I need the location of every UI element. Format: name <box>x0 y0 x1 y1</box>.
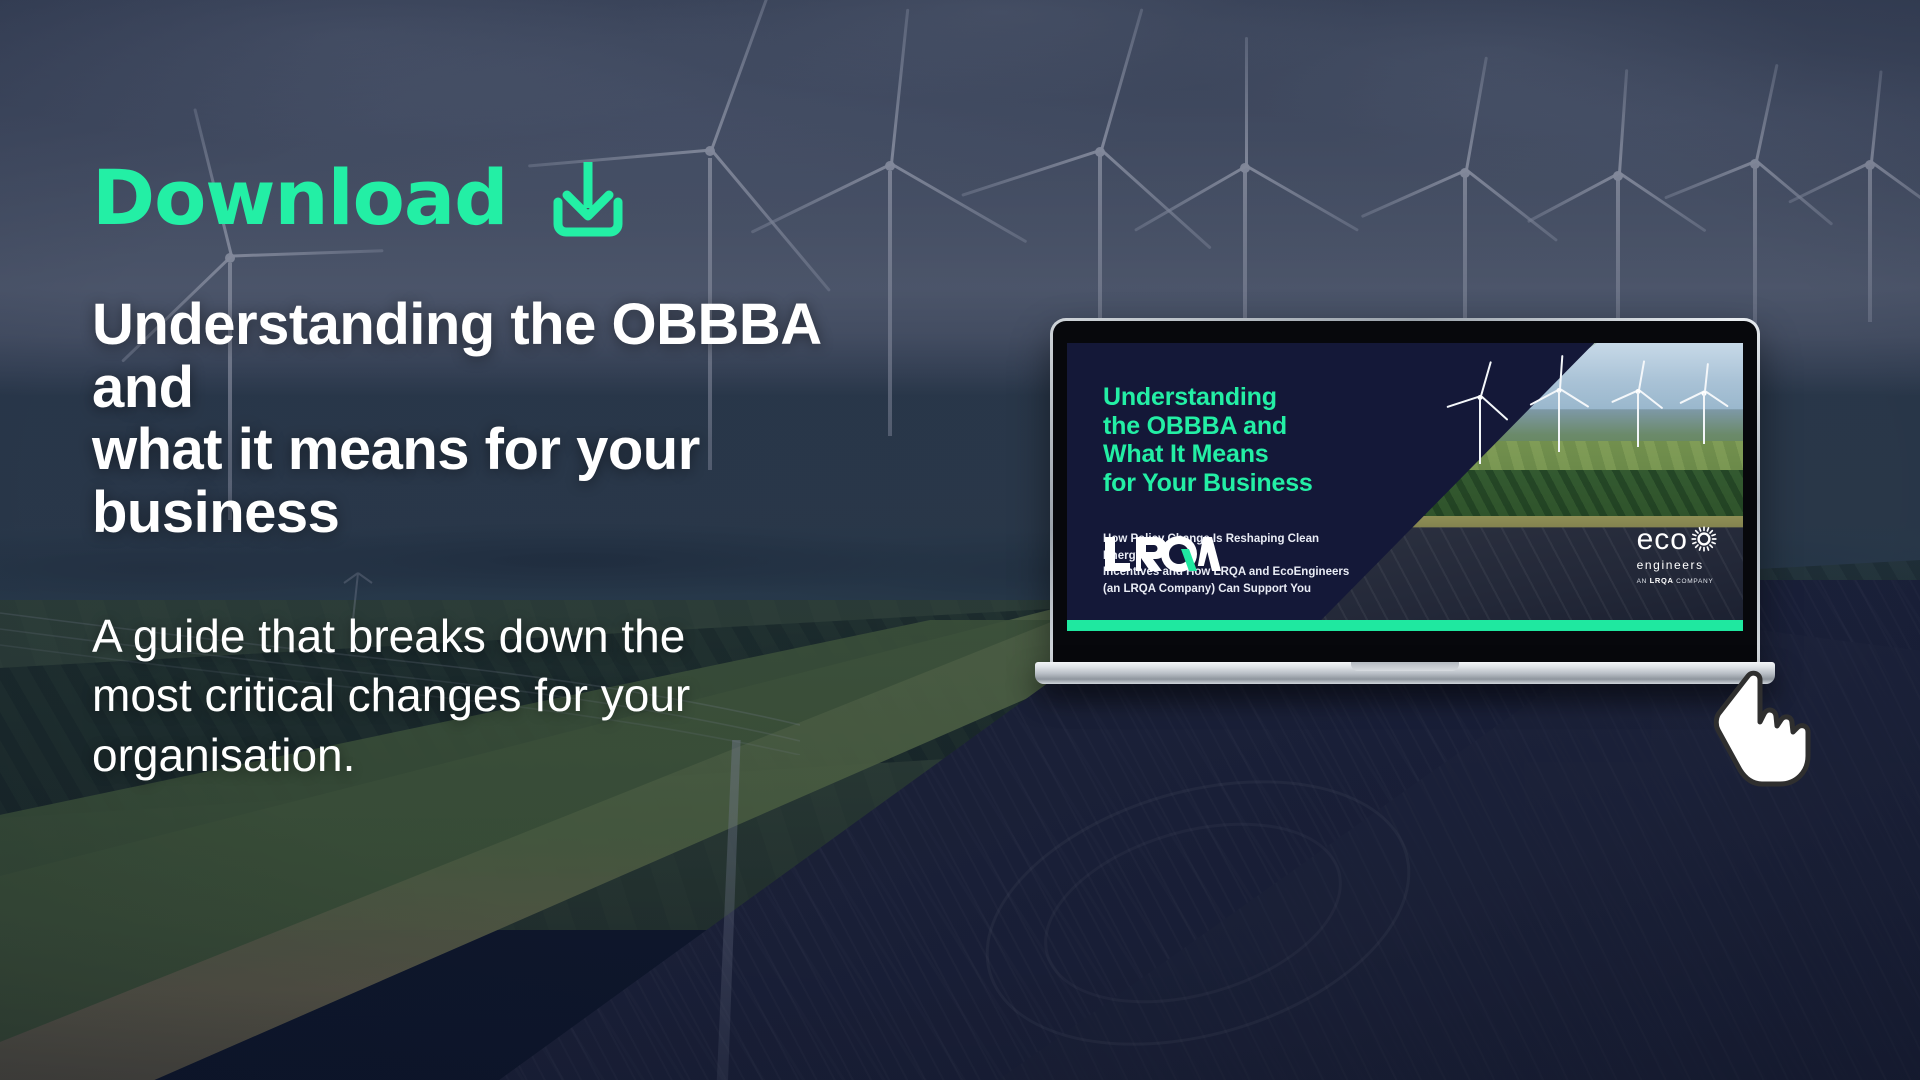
cover-wind-turbine-icon <box>1459 378 1501 464</box>
ecoengineers-subtitle: engineers <box>1637 558 1717 572</box>
cover-title: Understanding the OBBBA and What It Mean… <box>1103 383 1358 497</box>
cover-title-line-1: Understanding <box>1103 383 1358 412</box>
hand-pointer-cursor-icon <box>1712 660 1820 788</box>
ecoengineers-tagline: AN LRQA COMPANY <box>1637 576 1717 585</box>
page-title-line-2: what it means for your business <box>92 419 932 544</box>
cover-title-line-2: the OBBBA and <box>1103 412 1358 441</box>
page-title: Understanding the OBBBA and what it mean… <box>92 294 932 545</box>
lrqa-logo <box>1103 534 1221 579</box>
tagline-brand: LRQA <box>1650 576 1674 585</box>
laptop-lid: Understanding the OBBBA and What It Mean… <box>1050 318 1760 668</box>
laptop-bezel: Understanding the OBBBA and What It Mean… <box>1053 321 1757 665</box>
cover-wind-turbine-icon <box>1540 372 1578 452</box>
promo-copy-block: Download Understanding the OBBBA and wha… <box>92 150 972 786</box>
ecoengineers-wordmark: eco <box>1637 525 1688 555</box>
laptop-base-notch <box>1351 662 1459 671</box>
cover-title-line-3: What It Means <box>1103 440 1358 469</box>
cover-wind-turbine-icon <box>1621 375 1655 447</box>
promo-banner: Download Understanding the OBBBA and wha… <box>0 0 1920 1080</box>
sunburst-icon <box>1691 526 1717 552</box>
lrqa-logo-icon <box>1103 534 1221 574</box>
promo-description: A guide that breaks down the most critic… <box>92 607 792 786</box>
download-eyebrow: Download <box>92 160 508 236</box>
download-icon[interactable] <box>550 156 626 240</box>
cover-accent-bar <box>1067 620 1743 631</box>
tagline-suffix: COMPANY <box>1674 578 1714 585</box>
cover-wind-turbine-icon <box>1689 378 1719 444</box>
laptop-base <box>1035 662 1775 684</box>
laptop-mockup: Understanding the OBBBA and What It Mean… <box>1035 318 1775 648</box>
page-title-line-1: Understanding the OBBBA and <box>92 294 932 419</box>
ebook-cover[interactable]: Understanding the OBBBA and What It Mean… <box>1067 343 1743 631</box>
ecoengineers-logo: eco <box>1637 525 1717 585</box>
tagline-prefix: AN <box>1637 578 1650 585</box>
cover-title-line-4: for Your Business <box>1103 469 1358 498</box>
cover-subtitle-line-3: (an LRQA Company) Can Support You <box>1103 581 1358 598</box>
download-heading-row: Download <box>92 150 972 246</box>
